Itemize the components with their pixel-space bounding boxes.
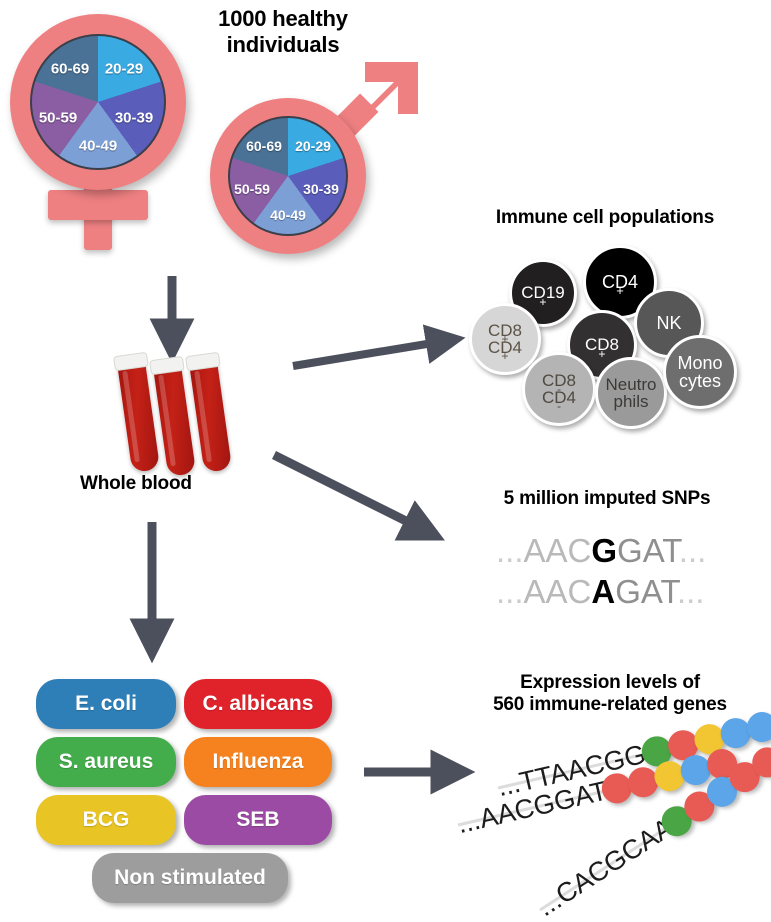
section-title-expression-levels: Expression levels of 560 immune-related … xyxy=(455,672,765,717)
snp-left-bases: AAC xyxy=(524,573,592,610)
stimulation-e--coli[interactable]: E. coli xyxy=(36,679,176,729)
arrow-blood-to-snps xyxy=(274,455,424,530)
snp-prefix-dots: ... xyxy=(496,532,524,569)
stimulation-s--aureus[interactable]: S. aureus xyxy=(36,737,176,787)
stimulation-non-stimulated[interactable]: Non stimulated xyxy=(92,853,288,903)
stimulation-label: Influenza xyxy=(212,750,303,774)
stimulation-influenza[interactable]: Influenza xyxy=(184,737,332,787)
snp-variant-base-a: A xyxy=(591,573,615,610)
snp-left-bases: AAC xyxy=(524,532,592,569)
section-title-imputed-snps: 5 million imputed SNPs xyxy=(462,488,752,510)
stimulation-label: S. aureus xyxy=(59,750,154,774)
snp-prefix-dots: ... xyxy=(496,573,524,610)
stimulation-label: BCG xyxy=(83,808,130,832)
stimulation-bcg[interactable]: BCG xyxy=(36,795,176,845)
stimulation-c--albicans[interactable]: C. albicans xyxy=(184,679,332,729)
snp-right-bases: GAT xyxy=(617,532,679,569)
whole-blood-label: Whole blood xyxy=(80,473,240,495)
snp-right-bases: GAT xyxy=(615,573,677,610)
figure-canvas: 1000 healthy individuals 60-69 20-29 30-… xyxy=(0,0,771,922)
whole-blood-tubes xyxy=(100,346,250,486)
snp-suffix-dots: ... xyxy=(677,573,705,610)
arrow-blood-to-immune xyxy=(293,341,445,366)
stimulation-seb[interactable]: SEB xyxy=(184,795,332,845)
snp-sequence-row-2: ...AACAGAT... xyxy=(496,573,704,611)
section-title-immune-cell-populations: Immune cell populations xyxy=(455,207,755,229)
stimulation-label: SEB xyxy=(236,808,279,832)
stimulation-label: C. albicans xyxy=(203,692,314,716)
snp-suffix-dots: ... xyxy=(679,532,707,569)
stimulation-label: E. coli xyxy=(75,692,137,716)
snp-sequence-row-1: ...AACGGAT... xyxy=(496,532,706,570)
snp-variant-base-g: G xyxy=(591,532,617,569)
stimulation-label: Non stimulated xyxy=(114,866,266,890)
